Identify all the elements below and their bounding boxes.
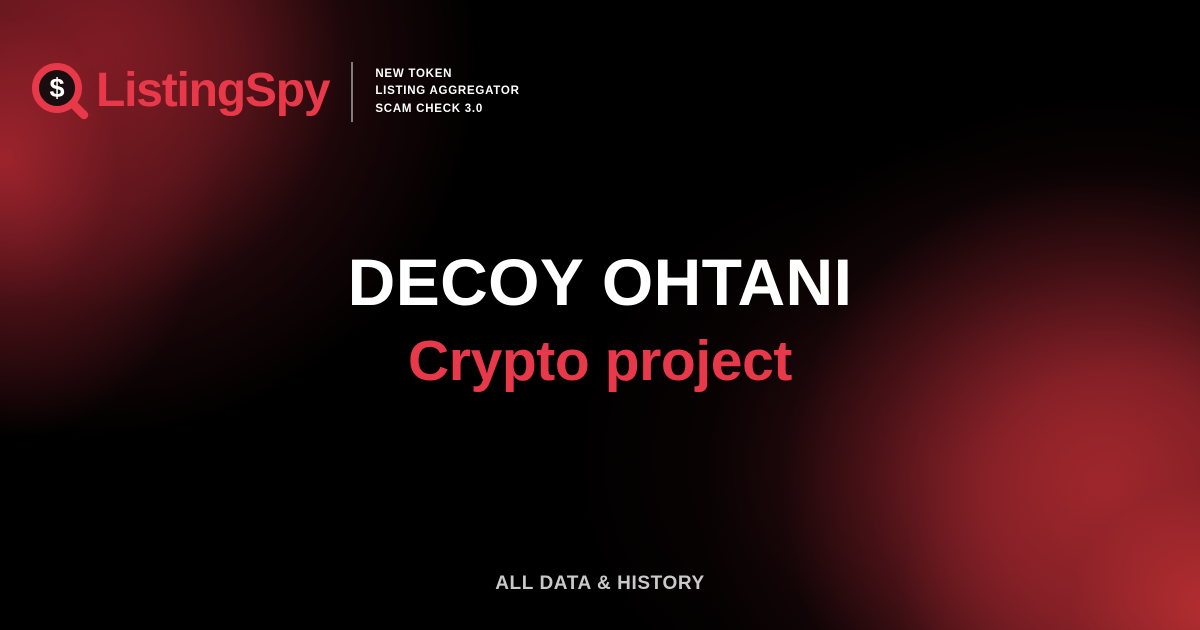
- svg-text:$: $: [49, 73, 64, 103]
- tagline-line-2: LISTING AGGREGATOR: [375, 83, 519, 100]
- magnifier-dollar-icon: $: [32, 63, 90, 121]
- hero-block: DECOY OHTANI Crypto project: [0, 248, 1200, 393]
- footer-note: ALL DATA & HISTORY: [0, 573, 1200, 595]
- page-subtitle: Crypto project: [0, 330, 1200, 393]
- brand-logo-block[interactable]: $ ListingSpy NEW TOKEN LISTING AGGREGATO…: [32, 56, 520, 128]
- logo-divider: [351, 62, 353, 122]
- promo-banner: $ ListingSpy NEW TOKEN LISTING AGGREGATO…: [0, 0, 1200, 630]
- tagline-line-1: NEW TOKEN: [375, 66, 519, 83]
- page-title: DECOY OHTANI: [0, 248, 1200, 318]
- brand-tagline: NEW TOKEN LISTING AGGREGATOR SCAM CHECK …: [375, 66, 519, 118]
- brand-wordmark: ListingSpy: [96, 67, 329, 115]
- tagline-line-3: SCAM CHECK 3.0: [375, 101, 519, 118]
